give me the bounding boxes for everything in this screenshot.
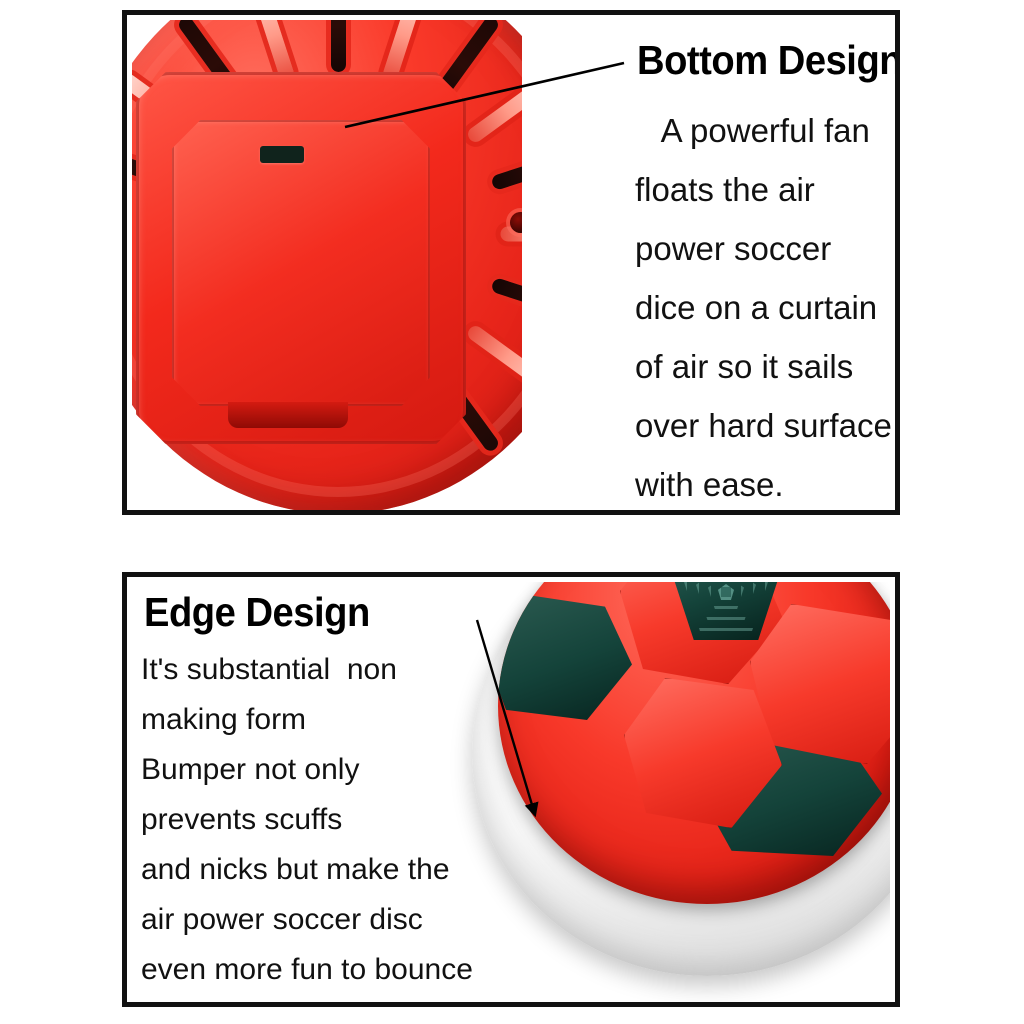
vent-slot [331,20,346,72]
battery-cover-inner [172,120,430,406]
panel-body-edge-design: It's substantial non making form Bumper … [141,645,521,1007]
latch-slot [260,146,304,163]
body-line: prevents scuffs [141,795,521,845]
panel-bottom-design: Bottom Design A powerful fan floats the … [122,10,900,515]
body-line: It's substantial non [141,645,521,695]
body-line: dice on a curtain [635,278,897,337]
disc-body [132,20,522,510]
vent-slot [490,145,522,191]
body-line: floats the air [635,160,897,219]
body-line: of air so it sails [635,337,897,396]
body-line: power soccer [635,219,897,278]
vent-slot [490,277,522,323]
body-line: around the room [141,995,521,1007]
body-line: A powerful fan [635,101,897,160]
panel-edge-design: Edge Design It's substantial non making … [122,572,900,1007]
body-line: even more fun to bounce [141,945,521,995]
vent-slot [465,72,522,145]
infographic-canvas: Bottom Design A powerful fan floats the … [0,0,1024,1024]
body-line: with ease. [635,455,897,514]
red-hover-disc-underside-photo [132,20,522,510]
panel-title-bottom-design: Bottom Design [637,37,900,83]
panel-title-edge-design: Edge Design [144,589,370,635]
battery-cover-plate [136,72,466,444]
bumper-notch [228,402,348,428]
body-line: air power soccer disc [141,895,521,945]
body-line: and nicks but make the [141,845,521,895]
panel-body-bottom-design: A powerful fan floats the air power socc… [635,101,897,514]
body-line: over hard surface [635,396,897,455]
body-line: Bumper not only [141,745,521,795]
vent-slot [465,323,522,396]
body-line: making form [141,695,521,745]
